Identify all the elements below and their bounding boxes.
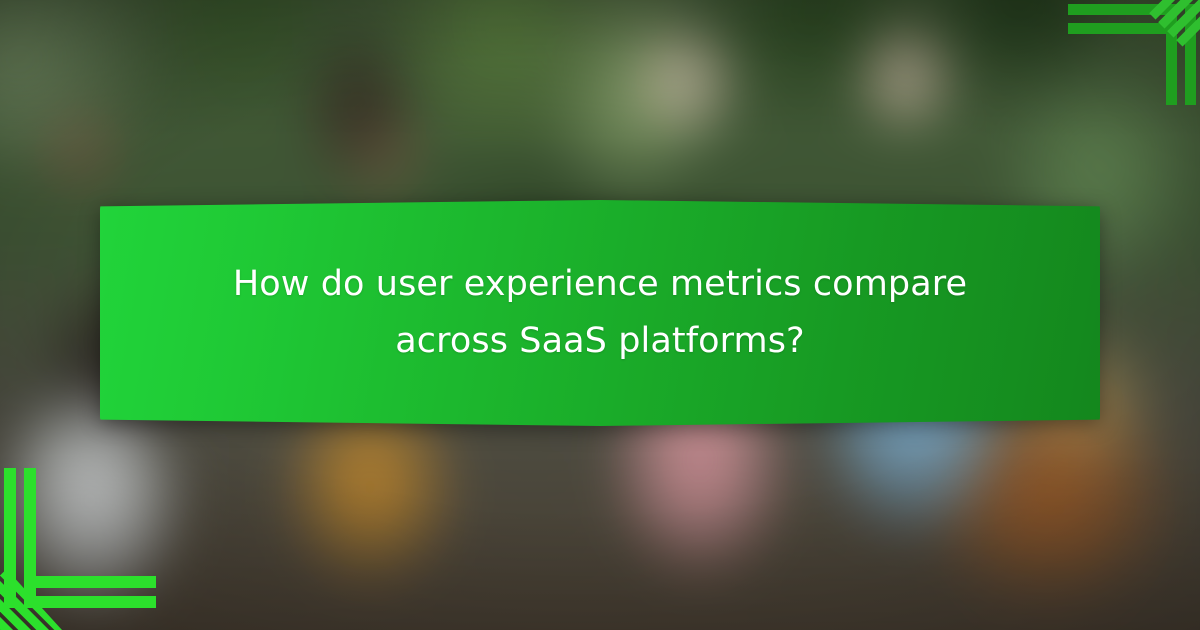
headline-banner: How do user experience metrics compare a…	[100, 200, 1100, 426]
banner-content: How do user experience metrics compare a…	[100, 200, 1100, 426]
headline-line-2: across SaaS platforms?	[395, 321, 805, 361]
social-card-canvas: How do user experience metrics compare a…	[0, 0, 1200, 630]
corner-bracket-bottom-left	[0, 458, 162, 630]
corner-bracket-top-right	[1040, 0, 1200, 112]
page-title: How do user experience metrics compare a…	[233, 256, 967, 369]
headline-line-1: How do user experience metrics compare	[233, 264, 967, 304]
